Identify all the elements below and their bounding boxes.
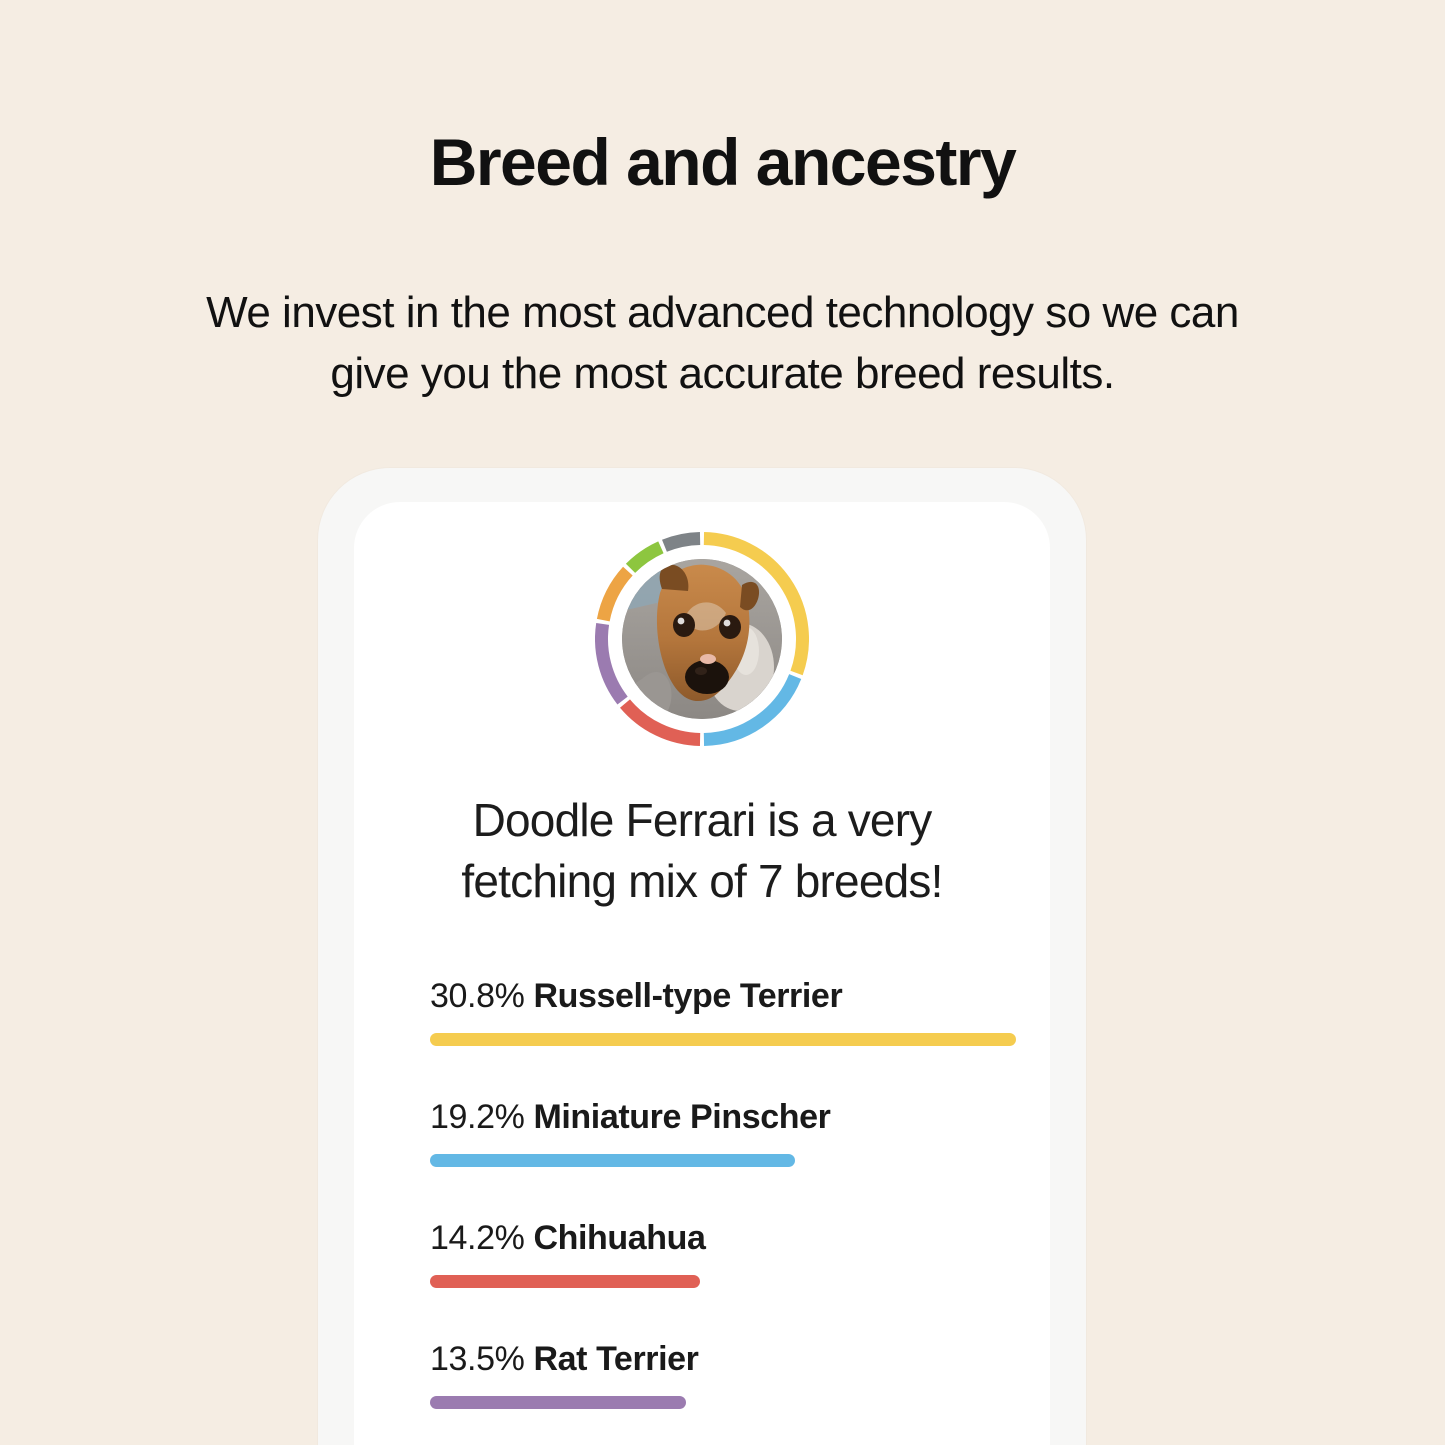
breed-percent: 30.8%	[430, 977, 524, 1015]
breed-bar-track	[430, 1396, 1050, 1409]
dog-photo-icon	[622, 559, 782, 719]
breed-list-item[interactable]: 14.2% Chihuahua	[430, 1219, 1050, 1288]
breed-bar-fill	[430, 1033, 1016, 1046]
dog-photo-avatar	[622, 559, 782, 719]
breed-list: 30.8% Russell-type Terrier19.2% Miniatur…	[354, 977, 1050, 1445]
breed-label: 13.5% Rat Terrier	[430, 1340, 1050, 1379]
avatar-ring-wrapper	[595, 532, 809, 746]
breed-label: 14.2% Chihuahua	[430, 1219, 1050, 1258]
page-subtitle: We invest in the most advanced technolog…	[168, 283, 1278, 404]
donut-segment	[603, 571, 628, 620]
page-header: Breed and ancestry We invest in the most…	[0, 0, 1445, 405]
donut-segment	[602, 624, 623, 701]
breed-bar-fill	[430, 1396, 686, 1409]
breed-percent: 13.5%	[430, 1340, 524, 1378]
donut-segment	[664, 539, 700, 546]
page-title: Breed and ancestry	[0, 128, 1445, 197]
breed-bar-track	[430, 1033, 1050, 1046]
breed-percent: 19.2%	[430, 1098, 524, 1136]
breed-list-item[interactable]: 13.5% Rat Terrier	[430, 1340, 1050, 1409]
breed-bar-track	[430, 1275, 1050, 1288]
breed-name: Chihuahua	[533, 1219, 705, 1257]
phone-screen: Doodle Ferrari is a very fetching mix of…	[354, 502, 1050, 1445]
breed-headline: Doodle Ferrari is a very fetching mix of…	[398, 790, 1006, 911]
phone-mockup-frame: Doodle Ferrari is a very fetching mix of…	[318, 468, 1086, 1445]
breed-bar-track	[430, 1154, 1050, 1167]
breed-percent: 14.2%	[430, 1219, 524, 1257]
breed-label: 30.8% Russell-type Terrier	[430, 977, 1050, 1016]
breed-label: 19.2% Miniature Pinscher	[430, 1098, 1050, 1137]
breed-name: Rat Terrier	[533, 1340, 698, 1378]
breed-bar-fill	[430, 1275, 700, 1288]
donut-segment	[631, 547, 661, 568]
breed-bar-fill	[430, 1154, 795, 1167]
breed-list-item[interactable]: 19.2% Miniature Pinscher	[430, 1098, 1050, 1167]
breed-name: Miniature Pinscher	[533, 1098, 830, 1136]
avatar-block	[354, 532, 1050, 746]
breed-list-item[interactable]: 30.8% Russell-type Terrier	[430, 977, 1050, 1046]
breed-name: Russell-type Terrier	[533, 977, 842, 1015]
